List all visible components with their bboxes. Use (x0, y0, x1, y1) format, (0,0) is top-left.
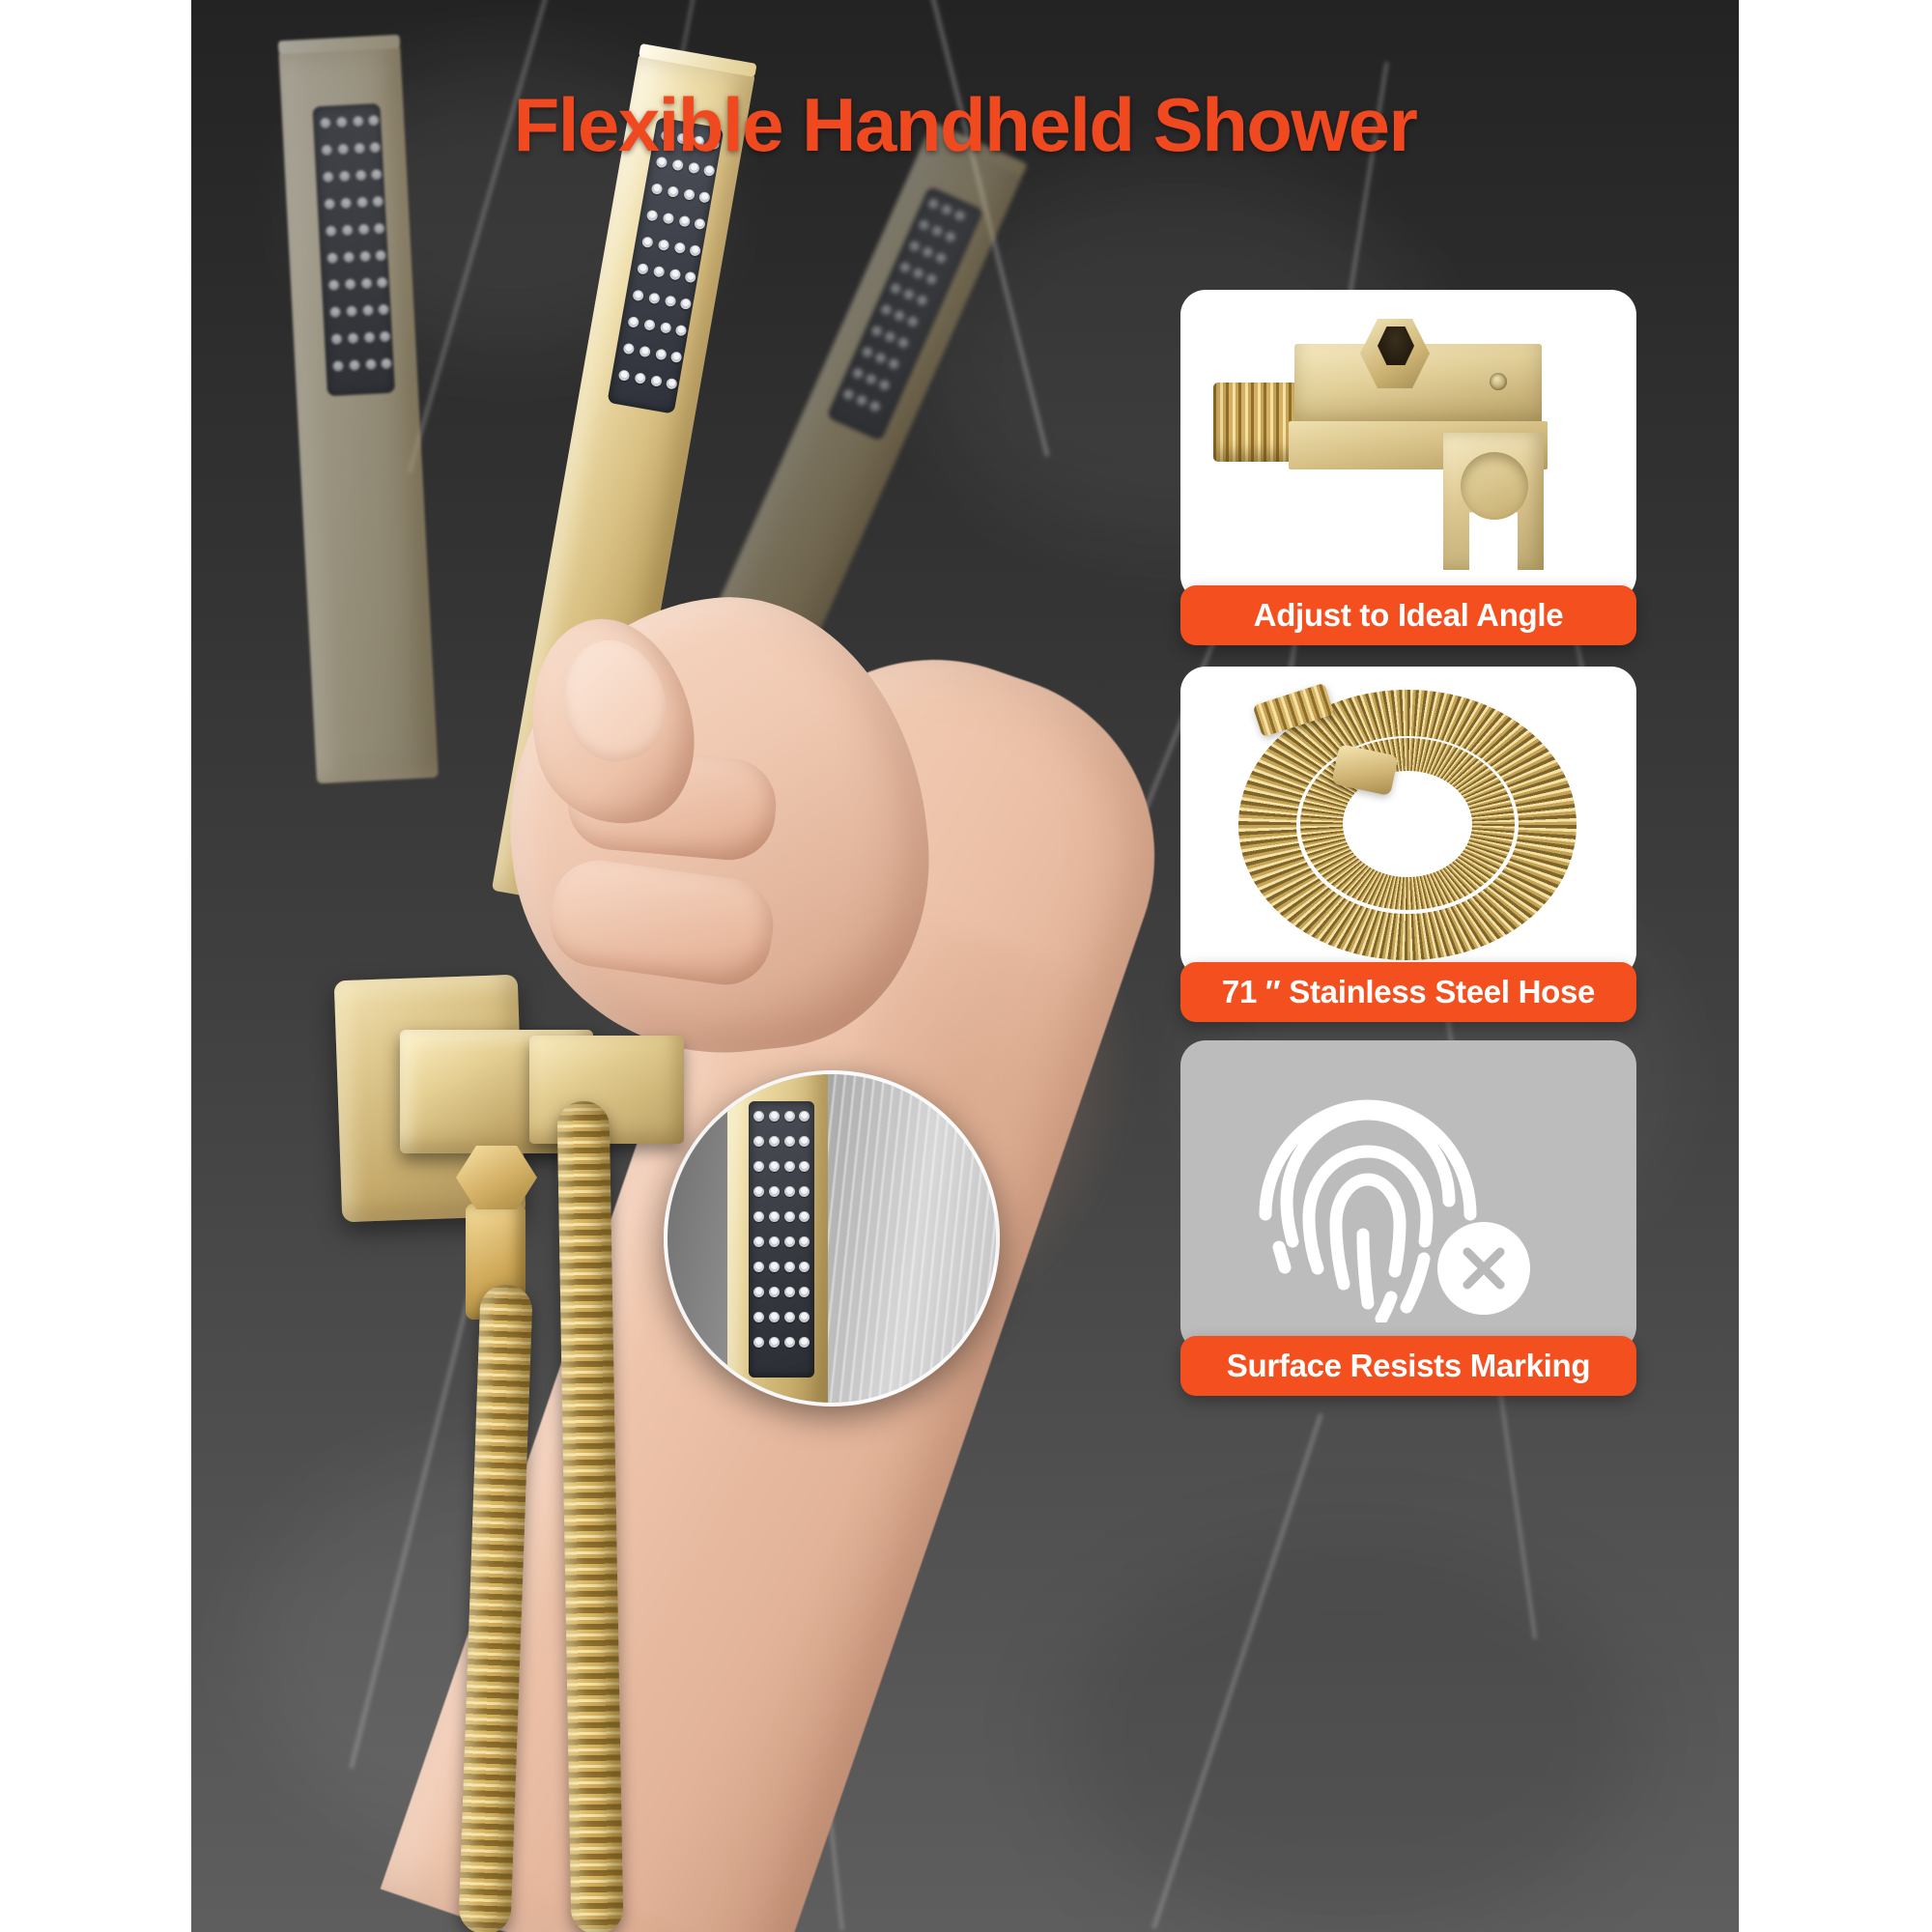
x-badge-icon (1437, 1222, 1530, 1315)
inset-nozzle-face (749, 1101, 814, 1378)
set-screw (1490, 373, 1507, 390)
card-art-panel (1180, 667, 1636, 978)
spray-detail-inset (664, 1070, 1000, 1406)
page-root: Flexible Handheld Shower Adjust to Ideal… (0, 0, 1932, 1932)
card-art-panel (1180, 290, 1636, 601)
page-title: Flexible Handheld Shower (191, 81, 1739, 169)
card-label-anti-fingerprint: Surface Resists Marking (1180, 1336, 1636, 1396)
right-margin (1739, 0, 1932, 1932)
card-label-hose: 71 ″ Stainless Steel Hose (1180, 962, 1636, 1022)
card-label-adjust-angle: Adjust to Ideal Angle (1180, 585, 1636, 645)
water-spray (812, 1074, 1000, 1403)
left-margin (0, 0, 191, 1932)
feature-card-hose[interactable]: 71 ″ Stainless Steel Hose (1180, 667, 1636, 1022)
feature-card-adjust-angle[interactable]: Adjust to Ideal Angle (1180, 290, 1636, 645)
feature-card-anti-fingerprint[interactable]: Surface Resists Marking (1180, 1040, 1636, 1396)
hero-photo-panel: Flexible Handheld Shower Adjust to Ideal… (191, 0, 1739, 1932)
card-art-panel (1180, 1040, 1636, 1351)
cradle-cup (1461, 452, 1528, 520)
